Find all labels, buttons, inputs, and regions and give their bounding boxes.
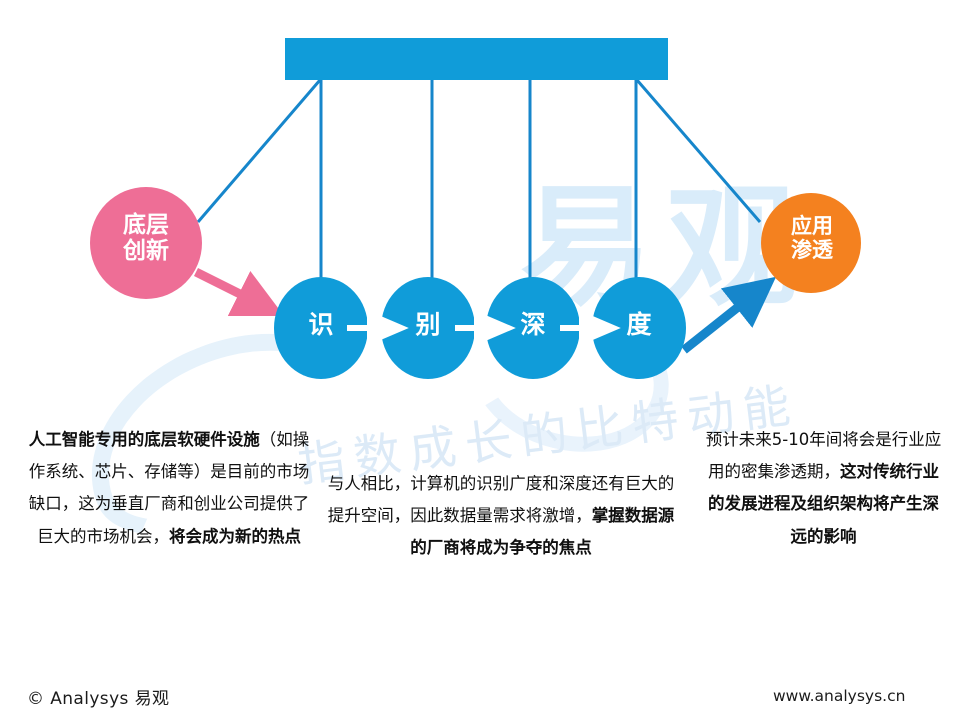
commentary-column-application: 预计未来5-10年间将会是行业应用的密集渗透期，这对传统行业的发展进程及组织架构… bbox=[700, 424, 947, 553]
commentary-columns: 人工智能专用的底层软硬件设施（如操作系统、芯片、存储等）是目前的市场缺口，这为垂… bbox=[0, 424, 960, 654]
commentary-column-innovation: 人工智能专用的底层软硬件设施（如操作系统、芯片、存储等）是目前的市场缺口，这为垂… bbox=[24, 424, 314, 553]
node-application-penetration-label: 应用 渗透 bbox=[762, 215, 862, 262]
node-step-1-label: 识 bbox=[290, 311, 352, 339]
footer-copyright: © Analysys 易观 bbox=[27, 684, 169, 709]
node-step-4-label: 度 bbox=[608, 311, 670, 339]
text-run-2: 将会成为新的热点 bbox=[169, 527, 301, 546]
connector-group bbox=[198, 80, 760, 290]
footer-website: www.analysys.cn bbox=[773, 687, 905, 705]
commentary-column-recognition: 与人相比，计算机的识别广度和深度还有巨大的提升空间，因此数据量需求将激增，掌握数… bbox=[327, 468, 675, 565]
slide-canvas: 易观 指数成长的比特动能 bbox=[0, 0, 960, 720]
arrow-innovation-to-pipeline bbox=[196, 272, 268, 308]
node-step-2-label: 别 bbox=[397, 311, 459, 339]
connector-bar-to-pink bbox=[198, 80, 320, 222]
top-header-bar[interactable] bbox=[285, 38, 668, 80]
text-run-0: 人工智能专用的底层软硬件设施 bbox=[29, 430, 260, 449]
node-step-3-label: 深 bbox=[502, 311, 564, 339]
node-foundation-innovation-label: 底层 创新 bbox=[95, 213, 197, 265]
connector-bar-to-orange bbox=[637, 80, 760, 222]
arrow-pipeline-to-application bbox=[684, 288, 762, 350]
